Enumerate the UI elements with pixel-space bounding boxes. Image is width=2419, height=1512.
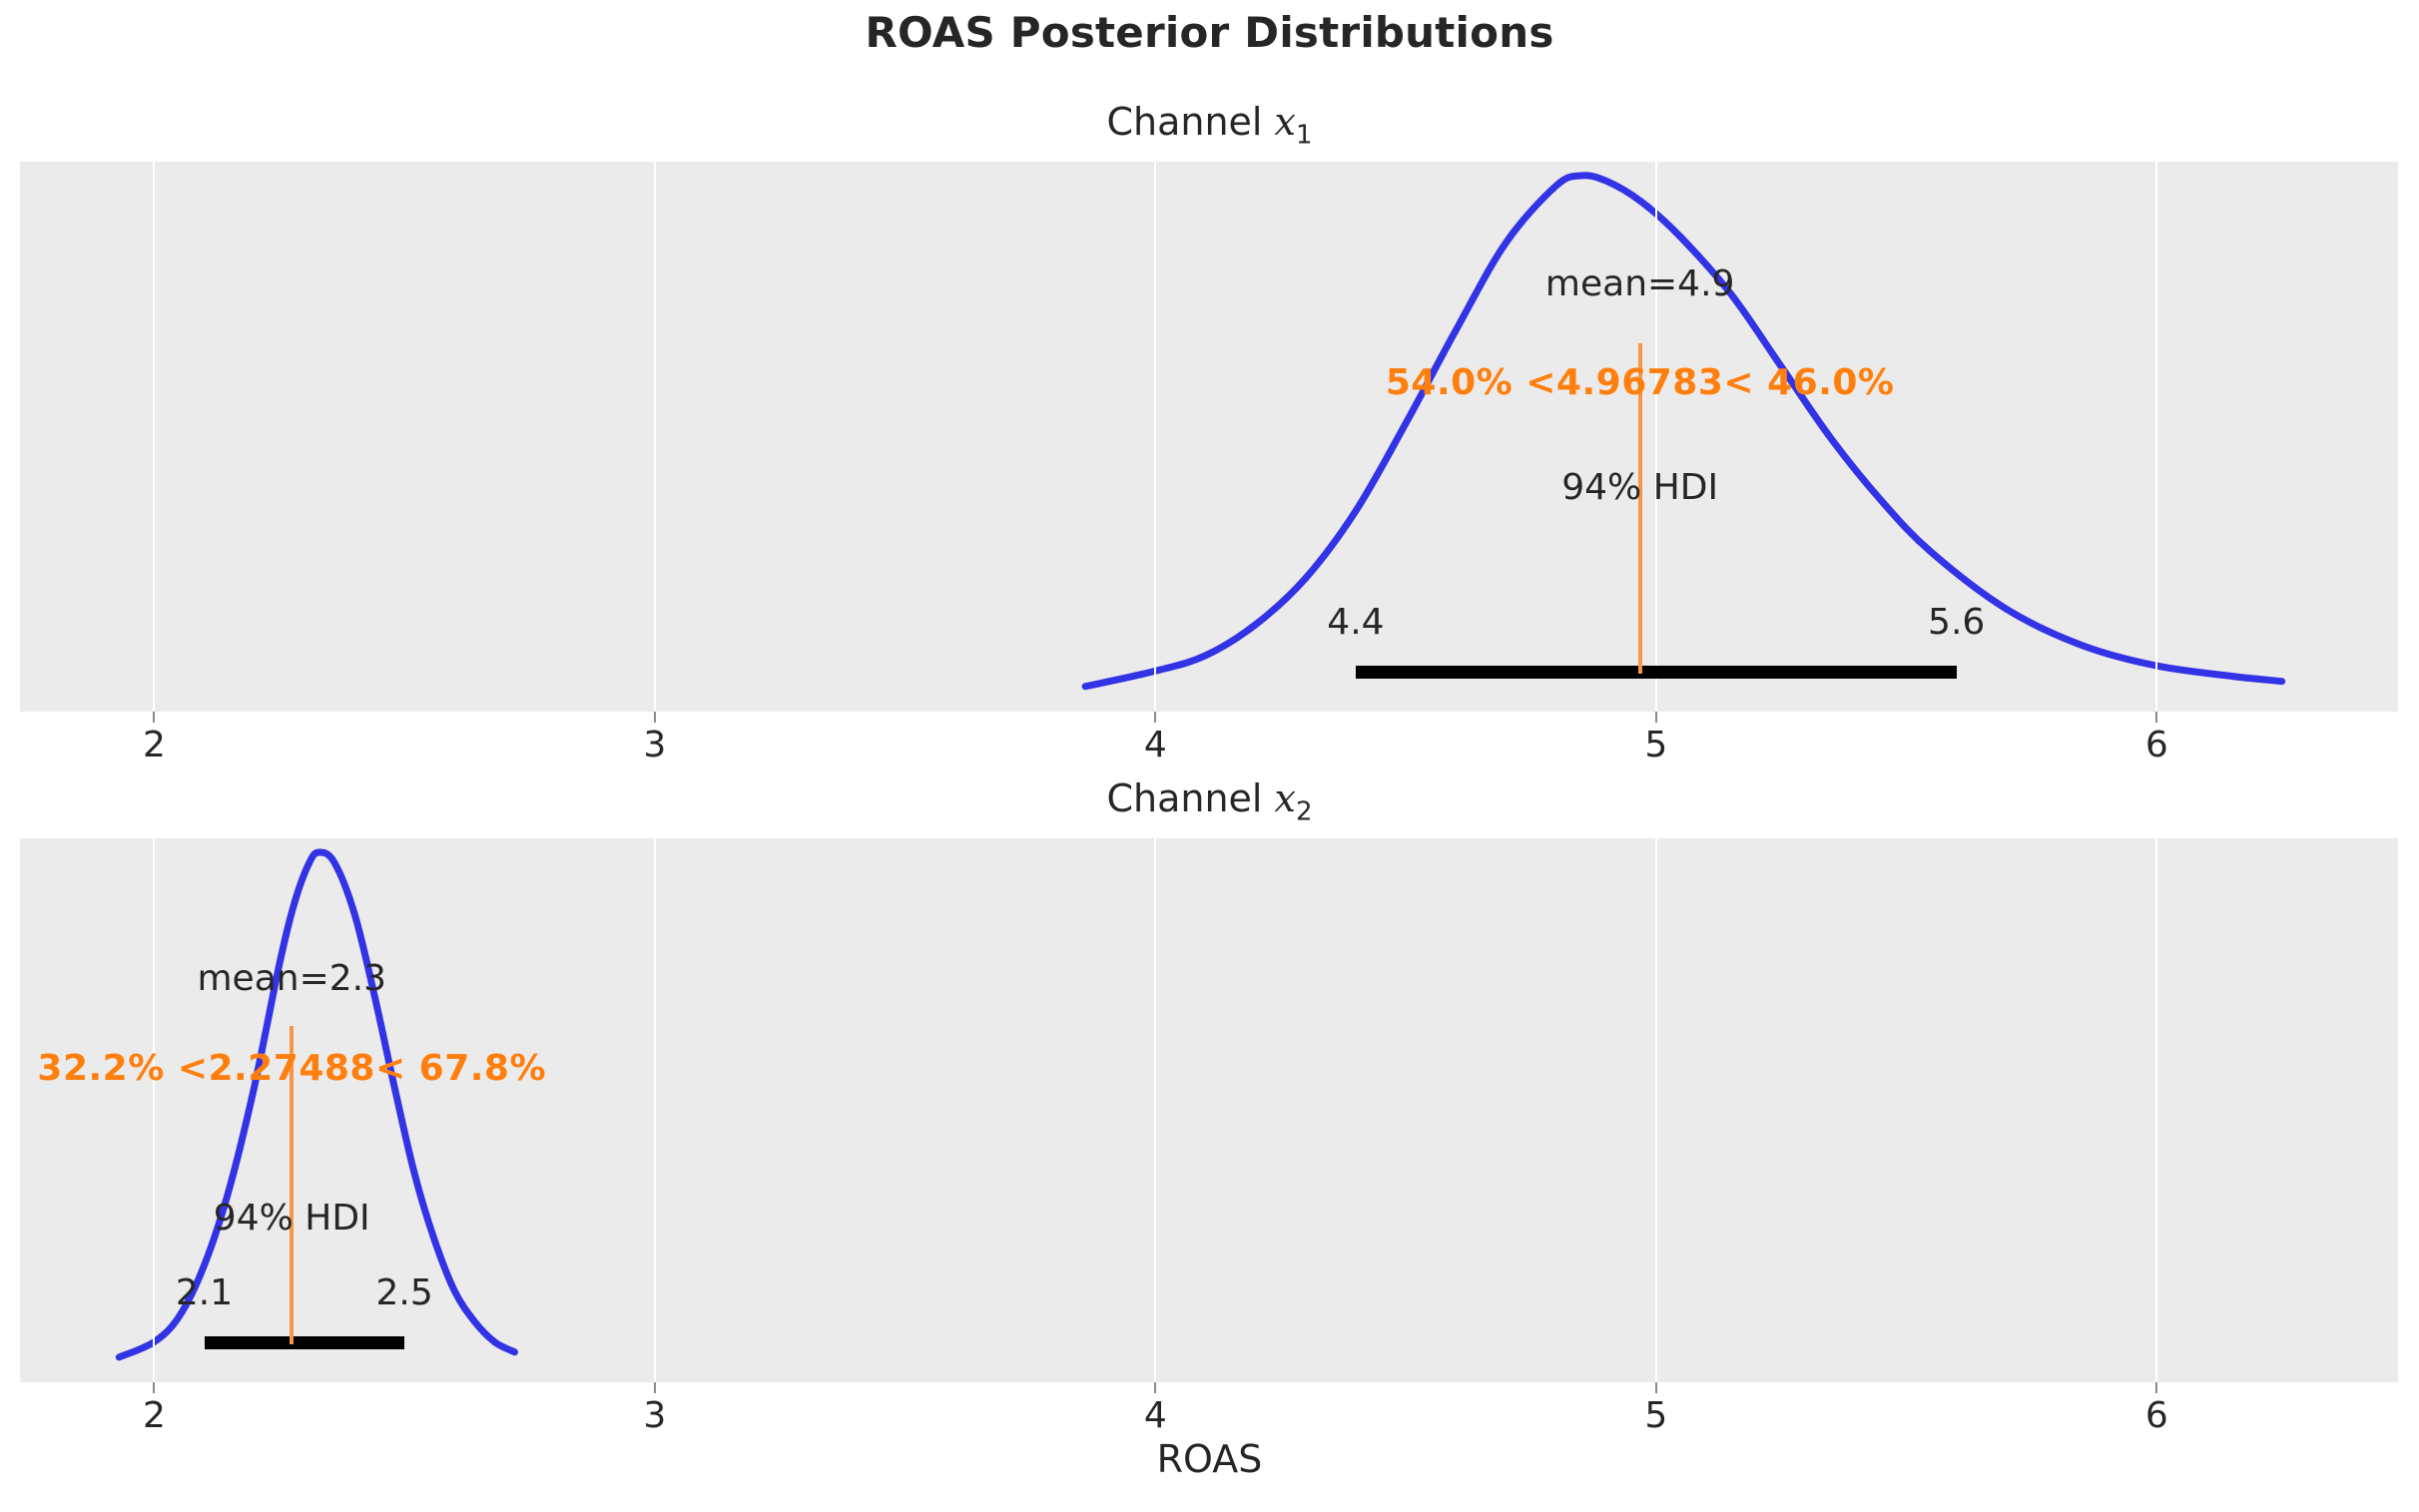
x-tick-mark-2 — [153, 1382, 155, 1393]
gridline-x-2 — [153, 838, 155, 1382]
panel-title-text-1: Channel — [1106, 776, 1274, 820]
gridline-x-5 — [1655, 162, 1657, 712]
panel-title-subscript-0: 1 — [1296, 121, 1313, 151]
x-tick-mark-3 — [654, 1382, 656, 1393]
gridline-x-4 — [1154, 838, 1156, 1382]
gridline-x-6 — [2155, 162, 2157, 712]
x-tick-mark-4 — [1154, 712, 1156, 723]
x-tick-label-4: 4 — [1144, 1395, 1167, 1436]
hdi-label: 94% HDI — [1561, 467, 1718, 508]
hdi-interval-bar — [205, 1336, 405, 1349]
panel-title-channel-x2: Channel x2 — [0, 776, 2419, 827]
figure-canvas: ROAS Posterior Distributions Channel x1 … — [0, 0, 2419, 1512]
reference-probability-annotation: 54.0% <4.96783< 46.0% — [1386, 362, 1895, 403]
x-tick-label-2: 2 — [143, 725, 166, 765]
mean-annotation: mean=2.3 — [197, 958, 386, 999]
x-tick-label-5: 5 — [1644, 1395, 1667, 1436]
x-tick-mark-4 — [1154, 1382, 1156, 1393]
gridline-x-5 — [1655, 838, 1657, 1382]
gridline-x-2 — [153, 162, 155, 712]
hdi-interval-bar — [1356, 666, 1957, 679]
mean-annotation: mean=4.9 — [1545, 263, 1735, 304]
reference-probability-annotation: 32.2% <2.27488< 67.8% — [37, 1048, 546, 1089]
x-tick-label-3: 3 — [643, 725, 666, 765]
plot-panel-channel-x1: mean=4.954.0% <4.96783< 46.0%94% HDI4.45… — [20, 162, 2398, 712]
gridline-x-3 — [654, 838, 656, 1382]
x-tick-mark-2 — [153, 712, 155, 723]
hdi-upper-bound-label: 2.5 — [375, 1272, 432, 1313]
hdi-upper-bound-label: 5.6 — [1928, 602, 1985, 643]
hdi-lower-bound-label: 4.4 — [1327, 602, 1384, 643]
panel-title-variable-0: x — [1275, 100, 1296, 144]
gridline-x-3 — [654, 162, 656, 712]
panel-title-channel-x1: Channel x1 — [0, 100, 2419, 151]
x-tick-mark-6 — [2155, 1382, 2157, 1393]
x-tick-label-3: 3 — [643, 1395, 666, 1436]
x-tick-mark-3 — [654, 712, 656, 723]
x-tick-label-6: 6 — [2145, 1395, 2168, 1436]
x-axis-label: ROAS — [0, 1437, 2419, 1481]
x-tick-label-4: 4 — [1144, 725, 1167, 765]
gridline-x-4 — [1154, 162, 1156, 712]
x-tick-label-5: 5 — [1644, 725, 1667, 765]
hdi-lower-bound-label: 2.1 — [176, 1272, 233, 1313]
x-tick-label-6: 6 — [2145, 725, 2168, 765]
gridline-x-6 — [2155, 838, 2157, 1382]
hdi-label: 94% HDI — [214, 1198, 370, 1239]
x-tick-mark-5 — [1655, 712, 1657, 723]
x-tick-label-2: 2 — [143, 1395, 166, 1436]
panel-title-variable-1: x — [1275, 776, 1296, 820]
plot-panel-channel-x2: mean=2.332.2% <2.27488< 67.8%94% HDI2.12… — [20, 838, 2398, 1382]
panel-title-subscript-1: 2 — [1296, 797, 1313, 827]
figure-title: ROAS Posterior Distributions — [0, 8, 2419, 57]
x-tick-mark-5 — [1655, 1382, 1657, 1393]
kde-curve-channel-x1 — [20, 162, 2398, 712]
panel-title-text-0: Channel — [1106, 100, 1274, 144]
x-tick-mark-6 — [2155, 712, 2157, 723]
